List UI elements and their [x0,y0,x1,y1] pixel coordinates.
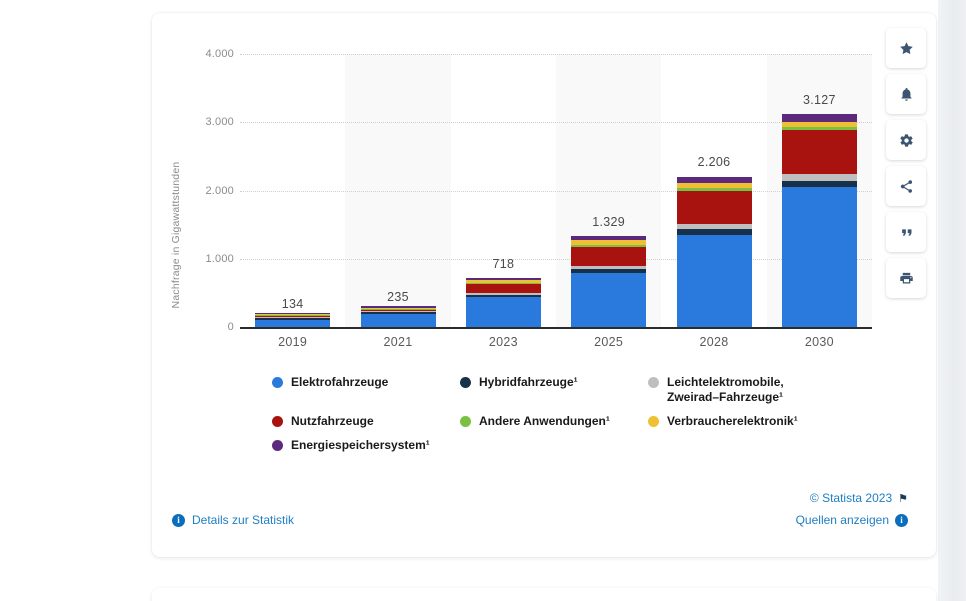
legend-item-verbraucherelektronik[interactable]: Verbraucherelektronik¹ [648,414,848,429]
y-tick-2000: 2.000 [174,185,234,197]
legend-swatch-icon [460,416,471,427]
gridline [240,122,872,123]
chart-legend: Elektrofahrzeuge Hybridfahrzeuge¹ Leicht… [272,375,922,462]
print-button[interactable] [886,258,926,298]
legend-item-leichtelektromobile[interactable]: Leichtelektromobile, Zweirad–Fahrzeuge¹ [648,375,848,405]
legend-row-2: Nutzfahrzeuge Andere Anwendungen¹ Verbra… [272,414,922,429]
details-link-label: Details zur Statistik [192,513,294,527]
y-tick-4000: 4.000 [174,48,234,60]
legend-item-hybridfahrzeuge[interactable]: Hybridfahrzeuge¹ [460,375,648,405]
statistic-card: Nachfrage in Gigawattstunden 4.000 3.000… [152,13,936,557]
x-tick-2021: 2021 [338,335,458,349]
page-root: Nachfrage in Gigawattstunden 4.000 3.000… [0,0,966,601]
bar-segment [361,314,436,327]
legend-item-energiespeichersystem[interactable]: Energiespeichersystem¹ [272,438,460,453]
legend-swatch-icon [272,377,283,388]
legend-label: Hybridfahrzeuge¹ [479,375,578,390]
gridline [240,191,872,192]
copyright-text: © Statista 2023 [810,491,892,505]
bar-segment [466,284,541,293]
legend-item-andere-anwendungen[interactable]: Andere Anwendungen¹ [460,414,648,429]
stacked-bar-chart: Nachfrage in Gigawattstunden 4.000 3.000… [152,13,936,413]
gridline [240,54,872,55]
y-axis-title: Nachfrage in Gigawattstunden [170,155,182,315]
legend-item-elektrofahrzeuge[interactable]: Elektrofahrzeuge [272,375,460,405]
action-toolbar [886,28,926,304]
share-icon [899,179,914,194]
y-axis: Nachfrage in Gigawattstunden 4.000 3.000… [152,54,234,327]
legend-label-multiline: Leichtelektromobile, Zweirad–Fahrzeuge¹ [667,375,784,405]
flag-icon[interactable]: ⚑ [898,492,908,505]
bar-2025[interactable] [571,236,646,327]
x-axis-line [240,327,872,329]
bar-segment [677,191,752,223]
details-link[interactable]: i Details zur Statistik [172,513,294,527]
y-tick-1000: 1.000 [174,253,234,265]
bar-segment [782,114,857,122]
bar-total-label: 2.206 [654,155,774,169]
legend-swatch-icon [272,416,283,427]
info-icon: i [895,514,908,527]
page-right-edge [938,0,966,601]
legend-label: Nutzfahrzeuge [291,414,374,429]
bar-segment [255,320,330,327]
legend-swatch-icon [272,440,283,451]
sources-link-label: Quellen anzeigen [796,513,889,527]
bar-segment [677,235,752,327]
legend-label-line2: Zweirad–Fahrzeuge¹ [667,390,783,404]
share-button[interactable] [886,166,926,206]
bar-segment [571,247,646,266]
legend-swatch-icon [648,377,659,388]
legend-label: Energiespeichersystem¹ [291,438,430,453]
x-tick-2019: 2019 [233,335,353,349]
legend-row-1: Elektrofahrzeuge Hybridfahrzeuge¹ Leicht… [272,375,922,405]
bell-icon [899,87,914,102]
gear-icon [899,133,914,148]
sources-link[interactable]: Quellen anzeigen i [796,513,908,527]
y-tick-3000: 3.000 [174,116,234,128]
bar-2019[interactable] [255,313,330,327]
bar-total-label: 134 [233,297,353,311]
notification-button[interactable] [886,74,926,114]
legend-item-nutzfahrzeuge[interactable]: Nutzfahrzeuge [272,414,460,429]
bar-total-label: 718 [443,257,563,271]
legend-label: Verbraucherelektronik¹ [667,414,798,429]
legend-row-3: Energiespeichersystem¹ [272,438,922,453]
bar-2030[interactable] [782,114,857,327]
settings-button[interactable] [886,120,926,160]
bar-segment [466,297,541,327]
favorite-button[interactable] [886,28,926,68]
bar-total-label: 235 [338,290,458,304]
legend-swatch-icon [460,377,471,388]
bar-segment [782,187,857,327]
x-tick-2023: 2023 [443,335,563,349]
legend-swatch-icon [648,416,659,427]
cite-button[interactable] [886,212,926,252]
legend-label: Elektrofahrzeuge [291,375,388,390]
next-card [152,588,936,601]
legend-label-line1: Leichtelektromobile, [667,375,784,389]
star-icon [899,41,914,56]
bar-2021[interactable] [361,306,436,327]
bar-segment [571,273,646,327]
legend-label: Andere Anwendungen¹ [479,414,610,429]
copyright-block: © Statista 2023 ⚑ [810,491,908,505]
print-icon [899,271,914,286]
quote-icon [899,225,914,240]
bar-2023[interactable] [466,278,541,327]
x-tick-2030: 2030 [759,335,879,349]
bar-total-label: 3.127 [759,93,879,107]
y-tick-0: 0 [174,321,234,333]
x-tick-2028: 2028 [654,335,774,349]
bar-segment [782,130,857,174]
bar-2028[interactable] [677,177,752,328]
bar-total-label: 1.329 [549,215,669,229]
info-icon: i [172,514,185,527]
x-tick-2025: 2025 [549,335,669,349]
